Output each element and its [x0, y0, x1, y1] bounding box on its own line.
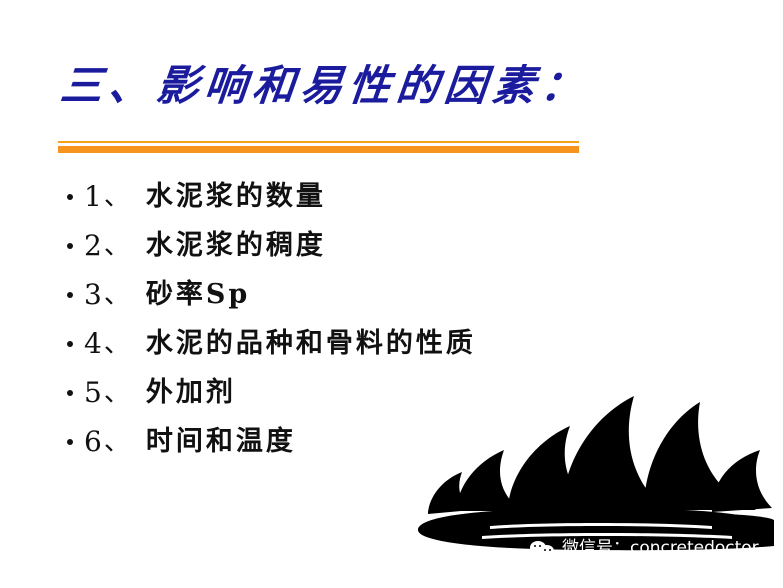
bullet-dot-icon [67, 292, 73, 298]
list-item-label: 水泥的品种和骨料的性质 [146, 330, 476, 357]
page-title: 三、影响和易性的因素： [58, 62, 733, 110]
list-item-separator: 、 [104, 429, 136, 455]
watermark-text: 微信号：concretedoctor [562, 540, 759, 557]
divider-thick-rule [58, 146, 579, 153]
bullet-dot-icon [67, 243, 73, 249]
list-item-label: 时间和温度 [146, 428, 296, 455]
list-item: 4 、 水泥的品种和骨料的性质 [62, 319, 702, 368]
slide-canvas: 三、影响和易性的因素： 1 、 水泥浆的数量 2 、 水泥浆的稠度 3 、 砂率… [0, 0, 783, 588]
list-item-separator: 、 [104, 380, 136, 406]
list-item-number: 2 [84, 232, 102, 260]
bullet-dot-icon [67, 390, 73, 396]
list-item-separator: 、 [104, 184, 136, 210]
list-item-label: 水泥浆的稠度 [146, 232, 326, 259]
list-item-separator: 、 [104, 331, 136, 357]
list-item-number: 5 [84, 379, 102, 407]
title-block: 三、影响和易性的因素： [58, 62, 728, 110]
list-item-separator: 、 [104, 282, 136, 308]
list-item-number: 4 [84, 330, 102, 358]
list-item-label: 外加剂 [146, 379, 236, 406]
list-item: 3 、 砂率Sp [62, 270, 702, 319]
sydney-opera-house-icon [412, 390, 783, 558]
list-item-number: 6 [84, 428, 102, 456]
list-item-label: 水泥浆的数量 [146, 183, 326, 210]
list-item-label: 砂率Sp [146, 281, 250, 308]
list-item: 1 、 水泥浆的数量 [62, 172, 702, 221]
bullet-dot-icon [67, 341, 73, 347]
list-item-number: 1 [84, 183, 102, 211]
list-item-separator: 、 [104, 233, 136, 259]
bullet-dot-icon [67, 439, 73, 445]
title-divider [58, 141, 579, 153]
watermark: 微信号：concretedoctor [530, 536, 759, 560]
wechat-icon [530, 539, 556, 557]
list-item-number: 3 [84, 281, 102, 309]
bullet-dot-icon [67, 194, 73, 200]
list-item: 2 、 水泥浆的稠度 [62, 221, 702, 270]
